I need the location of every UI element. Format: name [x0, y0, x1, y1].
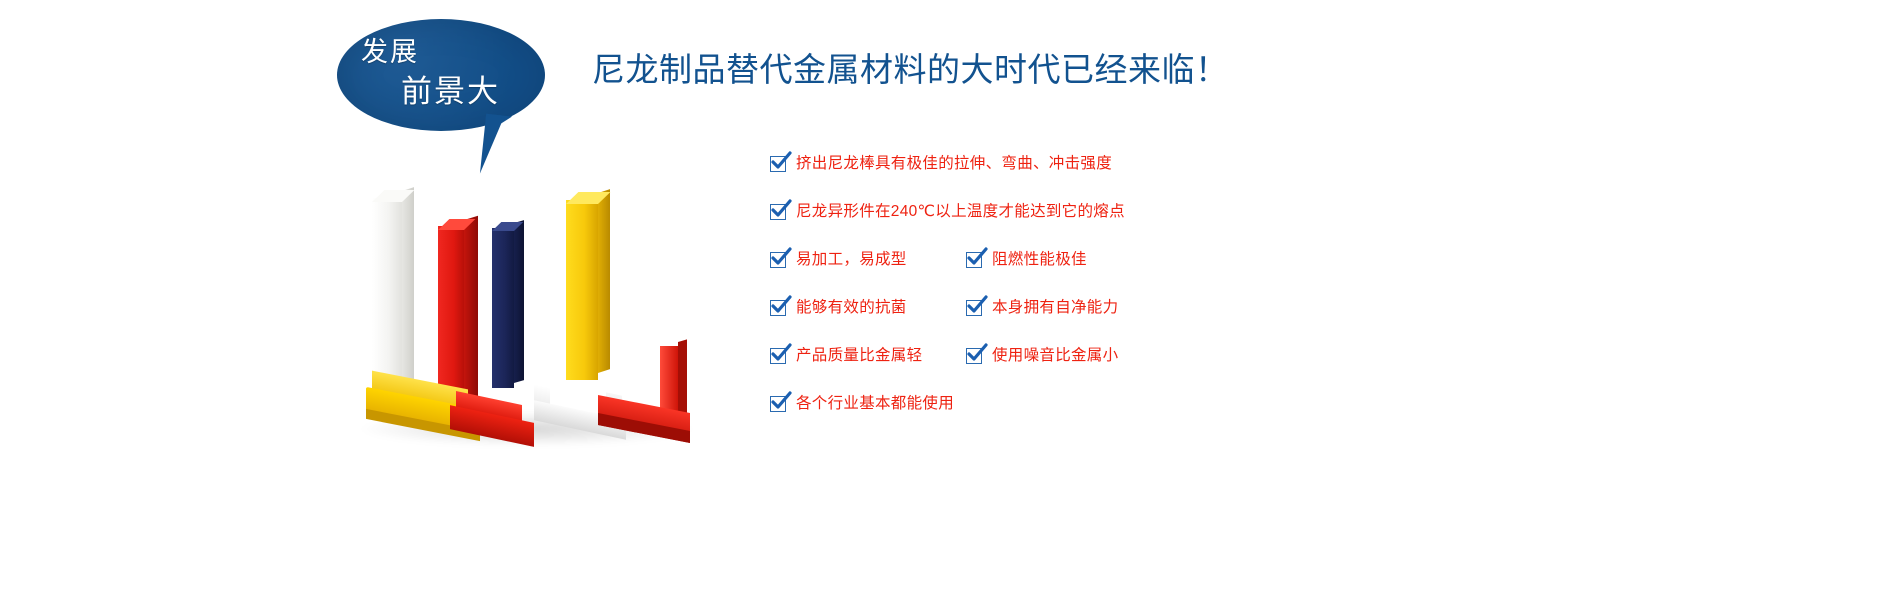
headline: 尼龙制品替代金属材料的大时代已经来临！	[592, 50, 1229, 90]
feature-text: 使用噪音比金属小	[992, 348, 1118, 364]
feature-row: 尼龙异形件在240℃以上温度才能达到它的熔点	[770, 204, 1410, 252]
promo-banner: 发展 前景大 尼龙制品替代金属材料的大时代已经来临！	[0, 0, 1902, 592]
feature-item: 各个行业基本都能使用	[770, 396, 954, 412]
checkbox-checked-icon	[966, 252, 982, 268]
feature-list: 挤出尼龙棒具有极佳的拉伸、弯曲、冲击强度尼龙异形件在240℃以上温度才能达到它的…	[770, 156, 1410, 444]
feature-item: 本身拥有自净能力	[966, 300, 1118, 316]
feature-item: 尼龙异形件在240℃以上温度才能达到它的熔点	[770, 204, 1125, 220]
feature-item: 挤出尼龙棒具有极佳的拉伸、弯曲、冲击强度	[770, 156, 1112, 172]
feature-item: 使用噪音比金属小	[966, 348, 1118, 364]
white-tall-side	[402, 187, 414, 406]
speech-bubble-line-1: 发展	[361, 39, 419, 66]
navy-tall-face	[492, 228, 514, 388]
feature-text: 尼龙异形件在240℃以上温度才能达到它的熔点	[796, 204, 1125, 220]
speech-bubble: 发展 前景大	[337, 19, 545, 131]
checkbox-checked-icon	[770, 156, 786, 172]
speech-bubble-tail	[480, 114, 512, 176]
feature-text: 挤出尼龙棒具有极佳的拉伸、弯曲、冲击强度	[796, 156, 1112, 172]
feature-text: 各个行业基本都能使用	[796, 396, 954, 412]
yellow-tall-face	[566, 200, 598, 380]
feature-text: 易加工，易成型	[796, 252, 907, 268]
navy-tall-flat-bar	[492, 228, 524, 388]
checkbox-checked-icon	[966, 348, 982, 364]
checkbox-checked-icon	[966, 300, 982, 316]
feature-text: 能够有效的抗菌	[796, 300, 907, 316]
feature-item: 阻燃性能极佳	[966, 252, 1087, 268]
navy-tall-side	[514, 220, 524, 383]
checkbox-checked-icon	[770, 204, 786, 220]
feature-row: 挤出尼龙棒具有极佳的拉伸、弯曲、冲击强度	[770, 156, 1410, 204]
feature-text: 阻燃性能极佳	[992, 252, 1087, 268]
feature-text: 本身拥有自净能力	[992, 300, 1118, 316]
red-lying-angle-large	[598, 346, 702, 450]
feature-row: 产品质量比金属轻使用噪音比金属小	[770, 348, 1410, 396]
feature-item: 能够有效的抗菌	[770, 300, 907, 316]
feature-row: 能够有效的抗菌本身拥有自净能力	[770, 300, 1410, 348]
feature-text: 产品质量比金属轻	[796, 348, 922, 364]
checkbox-checked-icon	[770, 252, 786, 268]
feature-row: 易加工，易成型阻燃性能极佳	[770, 252, 1410, 300]
checkbox-checked-icon	[770, 348, 786, 364]
nylon-profiles-photo	[352, 180, 712, 470]
red-lying-angle	[450, 398, 536, 450]
red-lying-large-upright-side	[678, 339, 687, 416]
checkbox-checked-icon	[770, 396, 786, 412]
feature-row: 各个行业基本都能使用	[770, 396, 1410, 444]
checkbox-checked-icon	[770, 300, 786, 316]
speech-bubble-line-2: 前景大	[401, 76, 500, 107]
feature-item: 产品质量比金属轻	[770, 348, 922, 364]
feature-item: 易加工，易成型	[770, 252, 907, 268]
